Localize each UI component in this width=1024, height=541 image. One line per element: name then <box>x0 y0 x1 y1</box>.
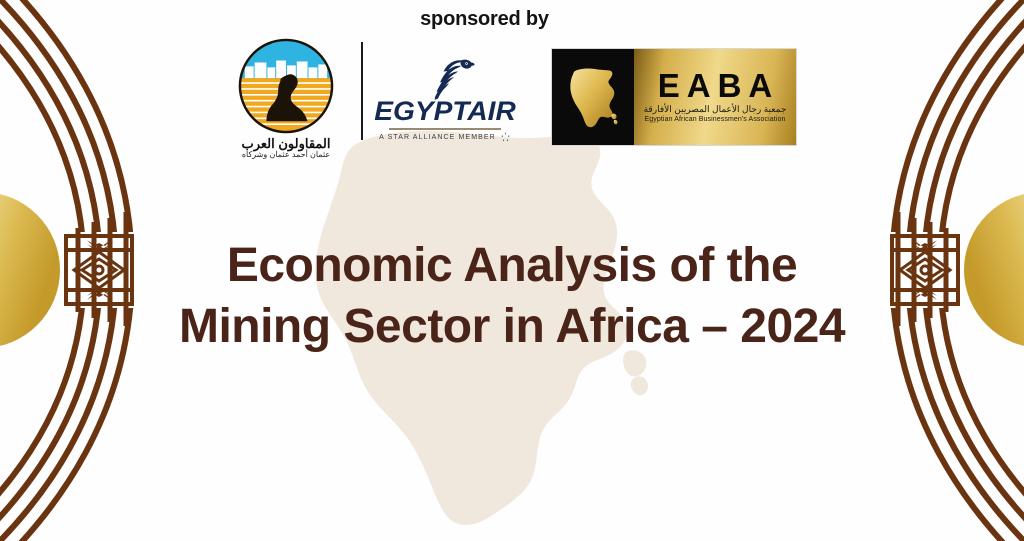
sponsor-logo-eaba[interactable]: EABA جمعية رجال الأعمال المصريين الأفارق… <box>551 48 797 146</box>
title-line-1: Economic Analysis of the <box>0 236 1024 297</box>
star-alliance-icon <box>500 132 511 143</box>
page-title: Economic Analysis of the Mining Sector i… <box>0 236 1024 358</box>
eaba-africa-panel <box>552 49 634 145</box>
egyptair-rule <box>389 128 501 130</box>
sponsor-logo-arab-contractors[interactable]: المقاولون العرب عثمان أحمد عثمان وشركاه <box>227 37 345 160</box>
title-line-2: Mining Sector in Africa – 2024 <box>0 297 1024 358</box>
arab-contractors-subtitle-arabic: عثمان أحمد عثمان وشركاه <box>242 151 330 160</box>
sponsor-logo-row: المقاولون العرب عثمان أحمد عثمان وشركاه <box>227 37 797 160</box>
egyptair-alliance-tagline: A STAR ALLIANCE MEMBER <box>379 134 496 141</box>
eaba-text-panel: EABA جمعية رجال الأعمال المصريين الأفارق… <box>634 49 796 145</box>
sponsor-section: sponsored by <box>0 8 1024 160</box>
eaba-name-arabic: جمعية رجال الأعمال المصريين الأفارقة <box>644 105 787 114</box>
poster-canvas: sponsored by <box>0 0 1024 541</box>
eaba-name-english: Egyptian African Businessmen's Associati… <box>645 116 786 123</box>
eaba-wordmark: EABA <box>651 69 780 102</box>
sphinx-disc-icon <box>237 37 335 135</box>
sponsored-by-label: sponsored by <box>420 8 549 31</box>
egyptair-wordmark: EGYPTAIR <box>374 98 515 125</box>
logo-divider <box>361 42 363 140</box>
africa-map-icon <box>567 66 619 128</box>
arab-contractors-name-arabic: المقاولون العرب <box>242 137 331 150</box>
horus-falcon-icon <box>415 58 475 100</box>
sponsor-logo-egyptair[interactable]: EGYPTAIR A STAR ALLIANCE MEMBER <box>379 58 511 143</box>
egyptair-alliance-row: A STAR ALLIANCE MEMBER <box>379 132 511 143</box>
